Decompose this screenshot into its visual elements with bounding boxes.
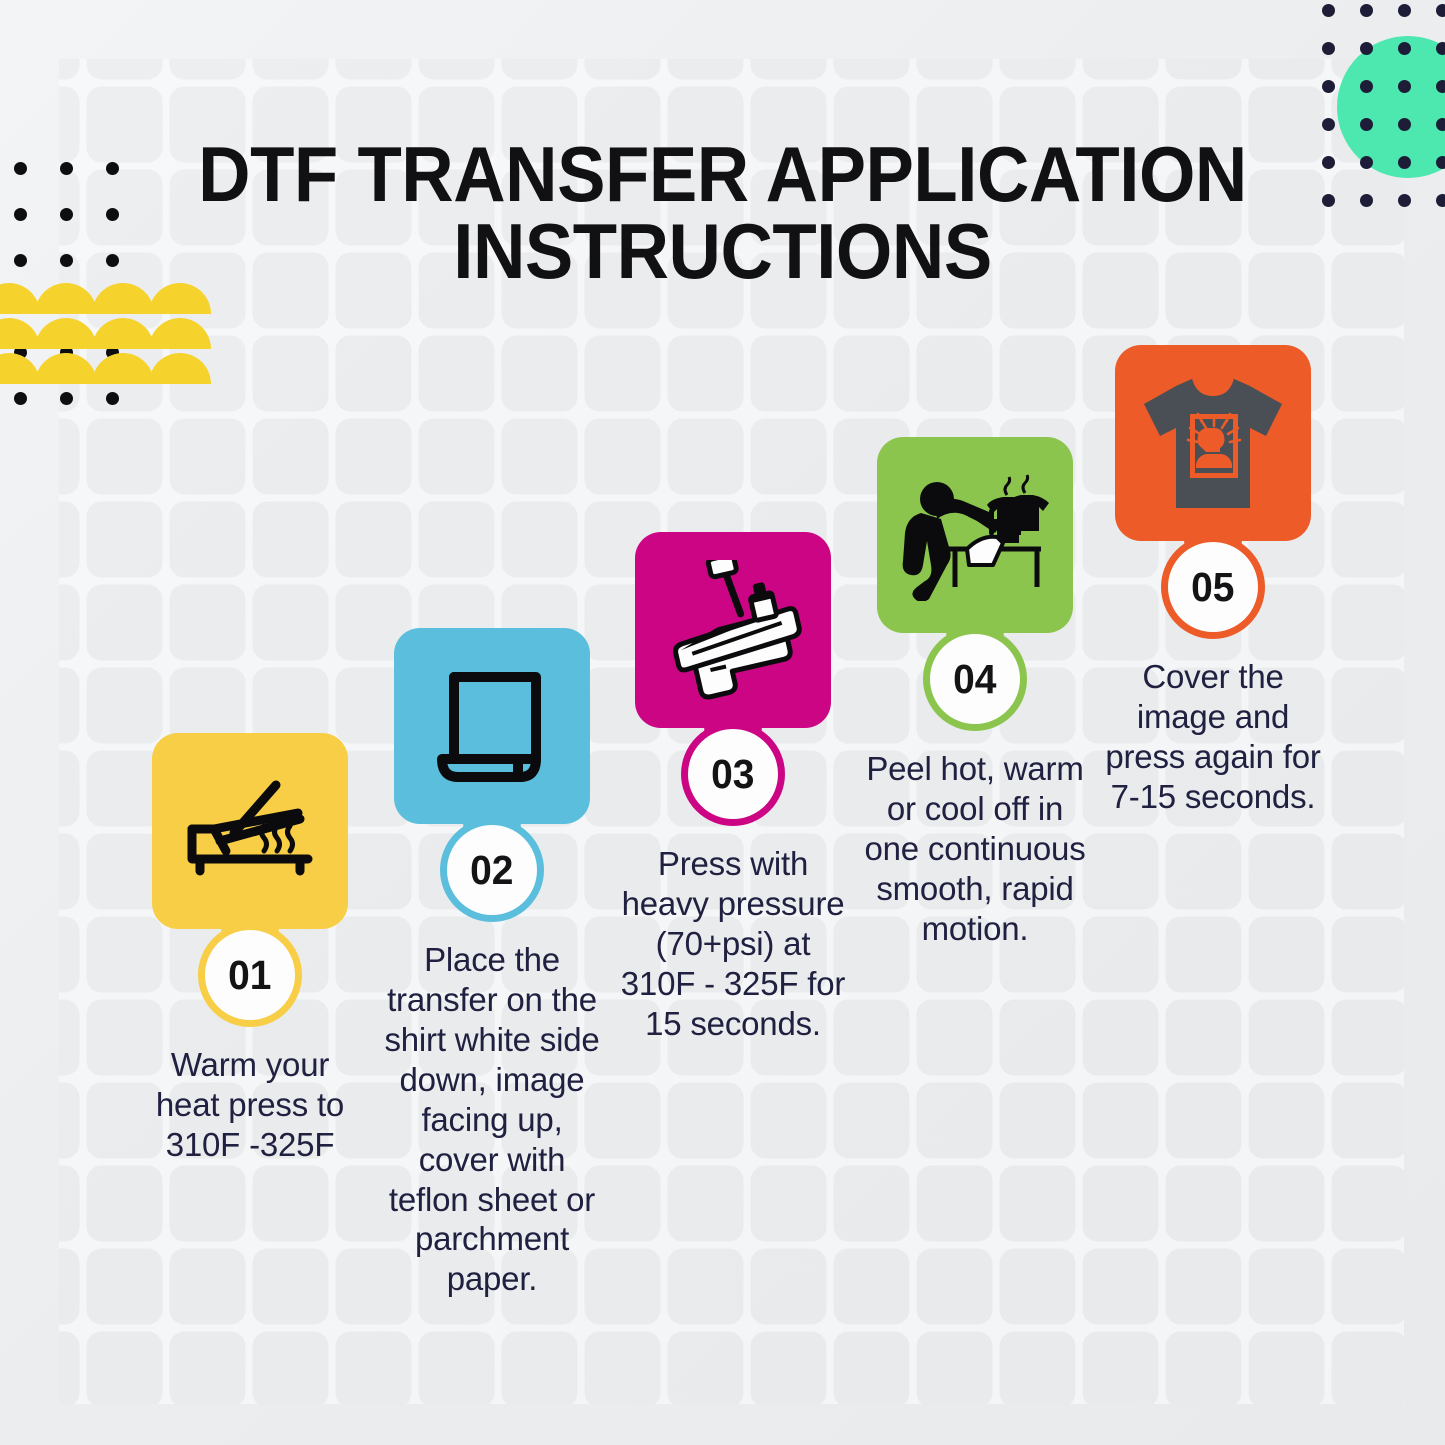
step-05-number: 05	[1191, 564, 1234, 611]
step-03-number: 03	[711, 751, 754, 798]
step-01-number-badge: 01	[198, 923, 302, 1027]
step-03-text: Press with heavy pressure (70+psi) at 31…	[619, 826, 847, 1044]
step-01-text: Warm your heat press to 310F -325F	[136, 1027, 364, 1165]
step-03-card	[635, 532, 831, 728]
step-05[interactable]: 05 Cover the image and press again for 7…	[1093, 345, 1333, 817]
step-02-number-badge: 02	[440, 818, 544, 922]
heat-press-open-icon	[180, 771, 320, 891]
step-03-number-badge: 03	[681, 722, 785, 826]
step-01[interactable]: 01 Warm your heat press to 310F -325F	[130, 733, 370, 1165]
step-04[interactable]: 04 Peel hot, warm or cool off in one con…	[855, 437, 1095, 949]
step-04-number-badge: 04	[923, 627, 1027, 731]
step-04-pin: 04	[877, 437, 1073, 731]
step-02-text: Place the transfer on the shirt white si…	[378, 922, 606, 1299]
transfer-sheet-icon	[432, 665, 552, 787]
heat-press-machine-icon	[658, 560, 808, 700]
step-05-card	[1115, 345, 1311, 541]
person-peeling-transfer-icon	[897, 469, 1053, 601]
step-02-number: 02	[470, 847, 513, 894]
step-05-number-badge: 05	[1161, 535, 1265, 639]
step-02-card	[394, 628, 590, 824]
step-01-number: 01	[228, 952, 271, 999]
step-05-text: Cover the image and press again for 7-15…	[1099, 639, 1327, 817]
step-02-pin: 02	[394, 628, 590, 922]
step-05-pin: 05	[1115, 345, 1311, 639]
step-03-pin: 03	[635, 532, 831, 826]
infographic-poster: DTF TRANSFER APPLICATION INSTRUCTIONS	[0, 0, 1445, 1445]
step-03[interactable]: 03 Press with heavy pressure (70+psi) at…	[613, 532, 853, 1044]
step-01-pin: 01	[152, 733, 348, 1027]
printed-tshirt-icon	[1138, 370, 1288, 516]
page-title-wrap: DTF TRANSFER APPLICATION INSTRUCTIONS	[0, 136, 1445, 290]
step-04-number: 04	[953, 656, 996, 703]
step-01-card	[152, 733, 348, 929]
step-04-card	[877, 437, 1073, 633]
step-04-text: Peel hot, warm or cool off in one contin…	[861, 731, 1089, 949]
page-title: DTF TRANSFER APPLICATION INSTRUCTIONS	[51, 136, 1395, 290]
step-02[interactable]: 02 Place the transfer on the shirt white…	[372, 628, 612, 1299]
